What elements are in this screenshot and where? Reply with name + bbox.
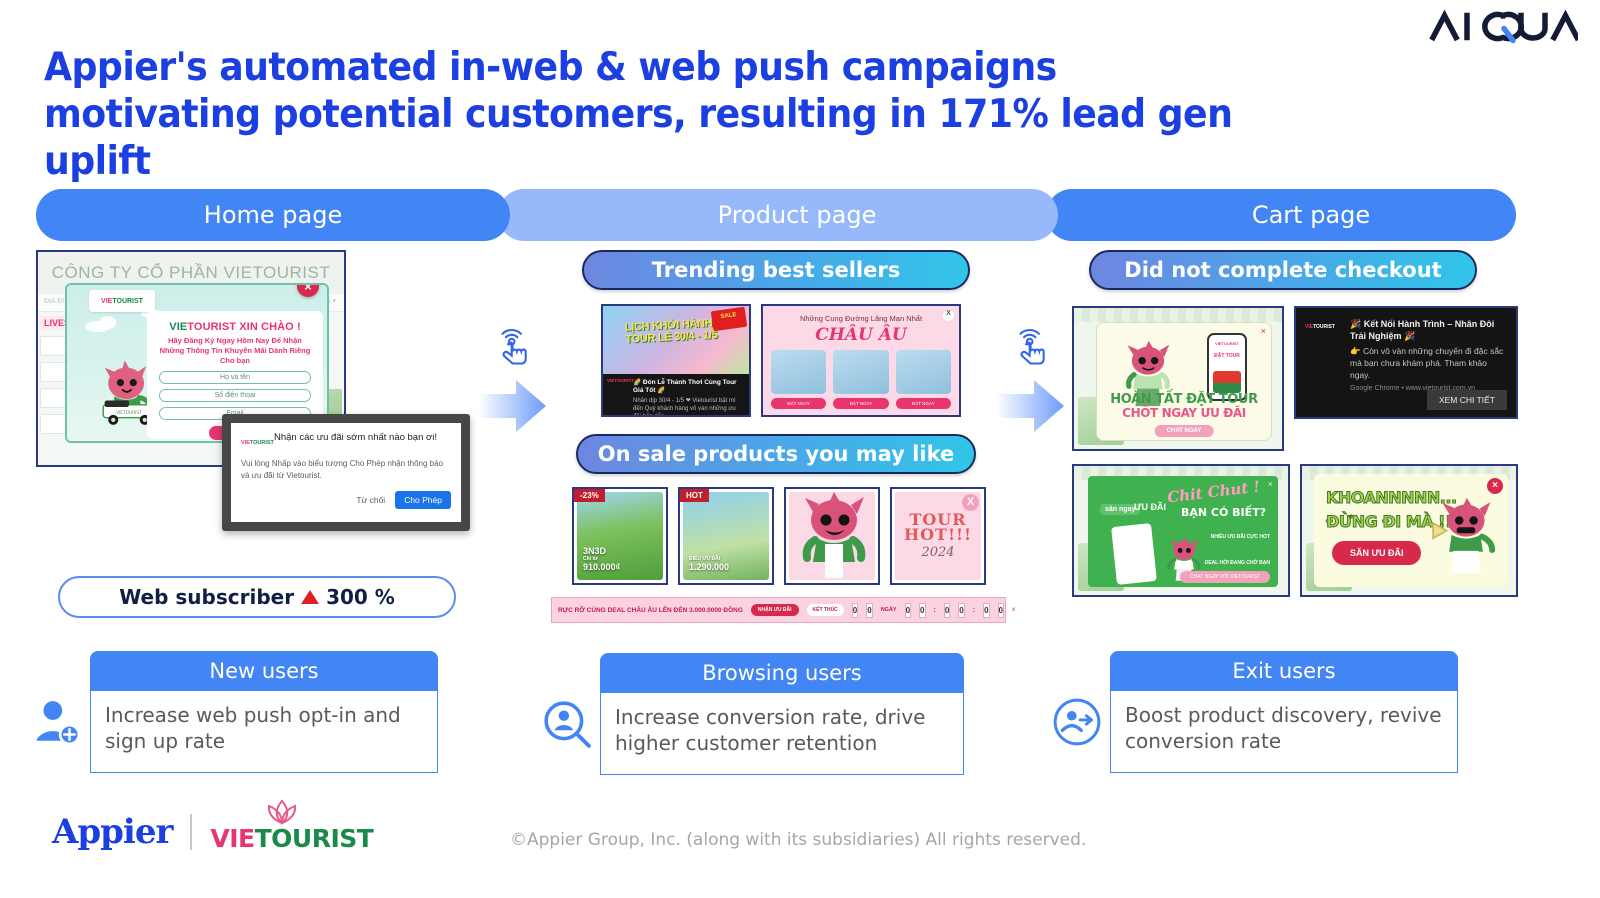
permission-header: VIETOURIST Nhận các ưu đãi sớm nhất nào …: [241, 431, 451, 455]
tap-gesture-icon: [1010, 325, 1052, 367]
web-subscriber-metric: Web subscriber 300 %: [58, 576, 456, 618]
vietourist-logo: VIETOURIST: [210, 810, 373, 853]
product-tile-row: -23% 3N3D Chỉ từ 910.000₫ HOT ĐIỂU ƯU ĐÃ…: [572, 487, 1015, 585]
booking-overlay-line1: HOÀN TẤT ĐẶT TOUR: [1097, 392, 1271, 407]
signup-title-rest: TOURIST XIN CHÀO !: [187, 321, 300, 333]
user-add-icon: [32, 697, 82, 747]
aiqua-logo: [1428, 8, 1578, 44]
close-icon[interactable]: ×: [1268, 479, 1273, 489]
cart-thumbnails-row-1: VIETOURIST ĐẶT TOUR HOÀN TẤT ĐẶT TOUR CH…: [1072, 306, 1535, 451]
product-tile-mascot[interactable]: [784, 487, 880, 585]
stage-home-label: Home page: [204, 201, 342, 229]
europe-promo-thumbnail[interactable]: Những Cung Đường Lãng Mạn Nhất CHÂU ÂU Đ…: [761, 304, 961, 417]
booking-overlay-thumbnail[interactable]: VIETOURIST ĐẶT TOUR HOÀN TẤT ĐẶT TOUR CH…: [1072, 306, 1284, 451]
push-cta-button[interactable]: XEM CHI TIẾT: [1427, 390, 1507, 410]
cart-thumbnails-row-2: săn ngay ƯU ĐÃI Chit Chut ! BẠN CÓ BIẾT?: [1072, 464, 1535, 597]
fb-post-body: Nhân dịp 30/4 - 1/5 ❤ Vietourist bật mí …: [633, 397, 743, 417]
permission-card: VIETOURIST Nhận các ưu đãi sớm nhất nào …: [231, 423, 461, 522]
product-price: ĐIỂU ƯU ĐÃI 1.290.000: [689, 556, 729, 572]
vietourist-icon: VIETOURIST: [1305, 324, 1335, 330]
triangle-up-icon: [301, 590, 319, 604]
phone-vehicle-image: [1213, 371, 1241, 393]
countdown-day-digit: 0: [852, 603, 858, 618]
product-image: 3N3D Chỉ từ 910.000₫: [577, 492, 663, 580]
product-price-value: 910.000₫: [583, 562, 620, 572]
arrow-right-icon: [478, 380, 546, 432]
countdown-day-digit: 0: [866, 603, 872, 618]
mascot-illustration: [789, 492, 875, 580]
benefit-head-browsing-users: Browsing users: [600, 653, 964, 693]
signup-title: VIETOURIST XIN CHÀO !: [159, 321, 311, 333]
permission-allow-button[interactable]: Cho Phép: [395, 491, 451, 509]
countdown-minute-digit: 0: [944, 603, 950, 618]
overlay-note-2: DEAL HỜI ĐANG CHỜ BẠN: [1205, 560, 1270, 567]
user-exit-icon: [1052, 697, 1102, 747]
product-tile[interactable]: -23% 3N3D Chỉ từ 910.000₫: [572, 487, 668, 585]
chitchat-overlay-thumbnail[interactable]: săn ngay ƯU ĐÃI Chit Chut ! BẠN CÓ BIẾT?: [1072, 464, 1290, 597]
column-cart-page: Did not complete checkout: [1060, 250, 1535, 597]
booking-overlay-line2: CHỐT NGAY ƯU ĐÃI: [1097, 406, 1271, 420]
countdown-second-digit: 0: [998, 603, 1004, 618]
europe-book-button[interactable]: ĐẶT NGAY: [833, 398, 888, 409]
europe-book-button[interactable]: ĐẶT NGAY: [771, 398, 826, 409]
benefit-head-exit-users: Exit users: [1110, 651, 1458, 691]
signup-title-prefix: VIE: [169, 321, 187, 333]
exit-overlay-cta[interactable]: SĂN ƯU ĐÃI: [1332, 541, 1421, 565]
heading-on-sale-label: On sale products you may like: [598, 442, 954, 466]
chitchat-question: BẠN CÓ BIẾT?: [1181, 506, 1266, 519]
chitchat-script-text: Chit Chut !: [1166, 477, 1261, 506]
tour-hot-tile[interactable]: TOUR HOT!!! 2024 X: [890, 487, 986, 585]
countdown-end-label: KẾT THÚC: [807, 604, 844, 616]
overlay-tag-uudai: ƯU ĐÃI: [1134, 502, 1166, 512]
permission-title: Nhận các ưu đãi sớm nhất nào bạn ơi!: [274, 431, 437, 455]
mascot-product-image: [789, 492, 875, 580]
signup-subtitle: Hãy Đăng Ký Ngay Hôm Nay Để Nhận Những T…: [159, 336, 311, 366]
stage-product-page[interactable]: Product page: [498, 189, 1058, 241]
chitchat-cta-button[interactable]: CHAT NGAY VỚI VIETOURIST: [1180, 571, 1270, 583]
fb-post-title: 🌈 Đón Lễ Thảnh Thơi Cùng Tour Giá Tốt 🌈: [633, 379, 743, 395]
svg-text:VIETOURIST: VIETOURIST: [116, 410, 142, 416]
phone-mockup: VIETOURIST ĐẶT TOUR: [1207, 333, 1247, 401]
benefit-card-new-users: New users Increase web push opt-in and s…: [90, 651, 438, 773]
europe-subtitle: Những Cung Đường Lãng Mạn Nhất: [763, 314, 959, 323]
europe-card[interactable]: [833, 350, 888, 394]
benefit-card-browsing-users: Browsing users Increase conversion rate,…: [600, 653, 964, 775]
countdown-minute-digit: 0: [958, 603, 964, 618]
user-search-icon: [542, 699, 592, 749]
booking-overlay-cta[interactable]: CHAT NGAY: [1155, 425, 1214, 437]
europe-title: CHÂU ÂU: [763, 325, 959, 345]
permission-body: Vui lòng Nhấp vào biểu tượng Cho Phép nh…: [241, 458, 451, 482]
overlay-note-1: NHIỀU ƯU ĐÃI CỰC HOT: [1211, 534, 1270, 541]
vietourist-icon: VIETOURIST: [607, 378, 634, 383]
close-icon[interactable]: X: [943, 310, 954, 321]
product-price-value: 1.290.000: [689, 562, 729, 572]
signup-field-name[interactable]: Họ và tên: [159, 371, 311, 384]
heading-checkout-label: Did not complete checkout: [1124, 258, 1441, 282]
copyright-text: ©Appier Group, Inc. (along with its subs…: [510, 830, 1086, 850]
permission-deny-button[interactable]: Từ chối: [356, 495, 385, 505]
benefit-body-exit-users: Boost product discovery, revive conversi…: [1110, 691, 1458, 773]
countdown-separator: :: [934, 607, 936, 614]
slide-root: Appier's automated in-web & web push cam…: [0, 0, 1600, 898]
facebook-post-thumbnail[interactable]: LỊCH KHỞI HÀNH TOUR LỄ 30/4 - 1/5 SALE 🌈…: [601, 304, 751, 417]
tour-hot-line2: HOT!!!: [904, 527, 972, 542]
vietourist-icon: VIETOURIST: [241, 431, 267, 455]
stage-cart-page[interactable]: Cart page: [1046, 189, 1516, 241]
appier-logo: Appier: [52, 812, 172, 852]
product-tile[interactable]: HOT ĐIỂU ƯU ĐÃI 1.290.000: [678, 487, 774, 585]
countdown-separator: :: [973, 607, 975, 614]
phone-booking-label: ĐẶT TOUR: [1209, 353, 1245, 359]
countdown-hour-digit: 0: [905, 603, 911, 618]
close-icon[interactable]: ×: [1487, 478, 1503, 494]
product-image: ĐIỂU ƯU ĐÃI 1.290.000: [683, 492, 769, 580]
phone-logo: VIETOURIST: [1209, 341, 1245, 346]
countdown-cta-button[interactable]: NHẬN ƯU ĐÃI: [751, 604, 799, 616]
chitchat-overlay: săn ngay ƯU ĐÃI Chit Chut ! BẠN CÓ BIẾT?: [1088, 476, 1278, 587]
permission-actions: Từ chối Cho Phép: [241, 491, 451, 509]
signup-field-phone[interactable]: Số điện thoại: [159, 389, 311, 402]
vietourist-logo-text: VIETOURIST: [101, 298, 143, 305]
vietourist-logo-badge: VIETOURIST: [89, 290, 155, 312]
close-icon[interactable]: x: [1012, 607, 1015, 613]
product-nights: 3N3D: [583, 546, 606, 556]
stage-bar-group: Home page Product page Cart page: [36, 189, 1516, 241]
vietourist-vie: VIE: [210, 824, 254, 853]
benefit-head-new-users: New users: [90, 651, 438, 691]
stage-product-label: Product page: [680, 201, 877, 229]
stage-cart-label: Cart page: [1192, 201, 1370, 229]
mascot-illustration: [1428, 491, 1504, 583]
column-home-page: CÔNG TY CỔ PHẦN VIETOURIST LIVES H: [36, 250, 476, 467]
arrow-right-icon: [996, 380, 1064, 432]
heading-trending-label: Trending best sellers: [652, 258, 900, 282]
cloud-icon: [99, 316, 116, 329]
europe-card-row: [771, 350, 951, 394]
push-permission-dialog: VIETOURIST Nhận các ưu đãi sớm nhất nào …: [222, 414, 470, 531]
vietourist-tourist: TOURIST: [255, 824, 374, 853]
heading-trending-best-sellers: Trending best sellers: [582, 250, 970, 290]
exit-intent-overlay-thumbnail[interactable]: KHOANNNNN... ĐỪNG ĐI MÀ !!! SĂN ƯU ĐÃI ×: [1300, 464, 1518, 597]
lotus-icon: [262, 798, 302, 826]
heading-did-not-complete-checkout: Did not complete checkout: [1089, 250, 1477, 290]
discount-badge: -23%: [574, 489, 605, 502]
column-product-page: Trending best sellers LỊCH KHỞI HÀNH TOU…: [545, 250, 1015, 623]
tour-hot-year: 2024: [921, 545, 954, 560]
countdown-bar: RỰC RỠ CÙNG DEAL CHÂU ÂU LÊN ĐẾN 3.000.0…: [551, 597, 1006, 623]
push-title: 🎉 Kết Nối Hành Trình – Nhân Đôi Trải Ngh…: [1350, 318, 1506, 342]
footer-divider: [190, 814, 192, 850]
footer-logos: Appier VIETOURIST: [52, 810, 373, 853]
product-price: 3N3D Chỉ từ 910.000₫: [583, 546, 620, 572]
push-body: 👉 Còn vô vàn những chuyến đi đặc sắc mà …: [1350, 345, 1506, 381]
europe-card[interactable]: [896, 350, 951, 394]
vietourist-wordmark: VIETOURIST: [210, 824, 373, 853]
benefit-card-exit-users: Exit users Boost product discovery, revi…: [1110, 651, 1458, 773]
heading-on-sale-products: On sale products you may like: [576, 434, 976, 474]
booking-overlay-card: VIETOURIST ĐẶT TOUR HOÀN TẤT ĐẶT TOUR CH…: [1096, 322, 1272, 441]
push-notification-card[interactable]: VIETOURIST 🎉 Kết Nối Hành Trình – Nhân Đ…: [1294, 306, 1518, 419]
stage-home-page[interactable]: Home page: [36, 189, 510, 241]
hot-badge: HOT: [680, 489, 709, 502]
benefit-body-new-users: Increase web push opt-in and sign up rat…: [90, 691, 438, 773]
europe-card[interactable]: [771, 350, 826, 394]
exit-intent-overlay: KHOANNNNN... ĐỪNG ĐI MÀ !!! SĂN ƯU ĐÃI ×: [1314, 474, 1508, 587]
metric-value: 300 %: [326, 585, 395, 609]
countdown-hour-digit: 0: [919, 603, 925, 618]
metric-label: Web subscriber: [119, 585, 294, 609]
close-icon[interactable]: X: [962, 494, 979, 511]
countdown-second-digit: 0: [983, 603, 989, 618]
trending-thumbnails: LỊCH KHỞI HÀNH TOUR LỄ 30/4 - 1/5 SALE 🌈…: [601, 304, 1015, 417]
benefit-body-browsing-users: Increase conversion rate, drive higher c…: [600, 693, 964, 775]
countdown-text: RỰC RỠ CÙNG DEAL CHÂU ÂU LÊN ĐẾN 3.000.0…: [558, 607, 743, 614]
page-title: Appier's automated in-web & web push cam…: [44, 44, 1281, 185]
countdown-days-unit: NGÀY: [881, 607, 897, 613]
tap-gesture-icon: [492, 325, 534, 367]
phone-mockup: [1111, 523, 1157, 585]
europe-button-row: ĐẶT NGAY ĐẶT NGAY ĐẶT NGAY: [771, 398, 951, 409]
website-hero-title: CÔNG TY CỔ PHẦN VIETOURIST: [52, 263, 330, 283]
europe-book-button[interactable]: ĐẶT NGAY: [896, 398, 951, 409]
push-content: VIETOURIST 🎉 Kết Nối Hành Trình – Nhân Đ…: [1296, 308, 1516, 417]
close-icon[interactable]: ×: [1261, 326, 1266, 336]
